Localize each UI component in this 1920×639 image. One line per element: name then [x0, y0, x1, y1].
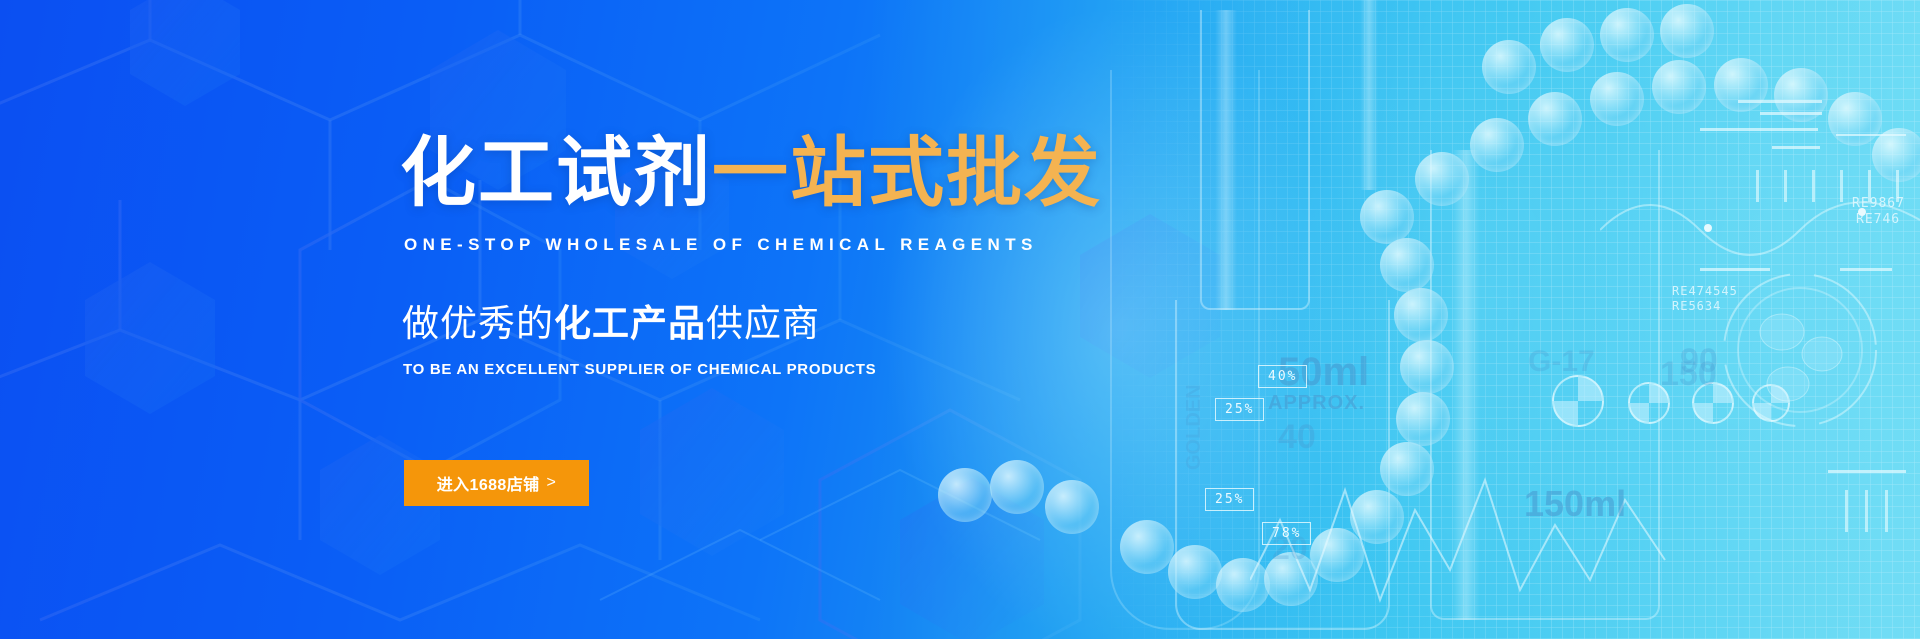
- tagline-trail-text: 供应商: [706, 303, 820, 344]
- flask-approx-label: APPROX.: [1268, 392, 1365, 415]
- banner-content: 化工试剂一站式批发 ONE-STOP WHOLESALE OF CHEMICAL…: [400, 0, 1200, 639]
- enter-1688-shop-button[interactable]: 进入1688店铺 >: [404, 460, 589, 506]
- chevron-right-icon: >: [547, 474, 557, 492]
- subtitle-english: ONE-STOP WHOLESALE OF CHEMICAL REAGENTS: [404, 235, 1038, 255]
- readout-percent-25: 25%: [1215, 398, 1264, 421]
- tagline-chinese: 做优秀的化工产品供应商: [402, 305, 820, 342]
- readout-code-c: RE474545: [1672, 284, 1738, 298]
- readout-code-b: RE746: [1856, 212, 1900, 227]
- headline-primary-text: 化工试剂: [400, 131, 712, 216]
- headline-accent-text: 一站式批发: [712, 131, 1102, 216]
- flask-grad-40-label: 40: [1278, 418, 1316, 457]
- promo-banner: 50ml APPROX. 40 20 150ml 150 GOLDEN 40% …: [0, 0, 1920, 639]
- readout-code-e: G-17: [1528, 345, 1595, 379]
- readout-percent-78: 78%: [1262, 522, 1311, 545]
- readout-percent-25b: 25%: [1205, 488, 1254, 511]
- readout-percent-40: 40%: [1258, 365, 1307, 388]
- cta-label: 进入1688店铺: [437, 471, 540, 495]
- page-title: 化工试剂一站式批发: [400, 136, 1102, 212]
- readout-code-a: RE9867: [1852, 196, 1905, 211]
- tagline-english: TO BE AN EXCELLENT SUPPLIER OF CHEMICAL …: [403, 361, 876, 378]
- tagline-emphasis-text: 化工产品: [554, 303, 706, 344]
- readout-code-d: RE5634: [1672, 299, 1721, 313]
- beaker-volume-label: 150ml: [1524, 483, 1626, 525]
- readout-value-90: 90: [1680, 342, 1718, 381]
- tagline-lead-text: 做优秀的: [402, 303, 554, 344]
